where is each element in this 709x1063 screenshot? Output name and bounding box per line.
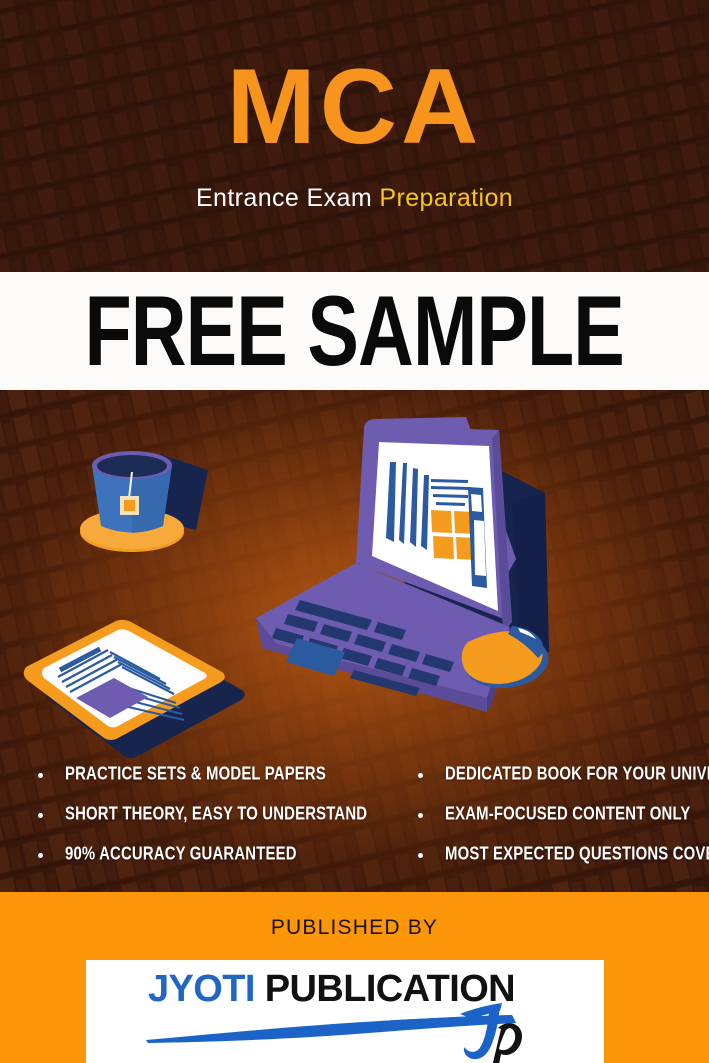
feature-label: MOST EXPECTED QUESTIONS COVERED [445, 845, 709, 866]
free-sample-band: FREE SAMPLE [0, 272, 709, 390]
bullet-dot-icon [418, 853, 423, 858]
free-sample-label: FREE SAMPLE [85, 281, 624, 380]
feature-column-left: PRACTICE SETS & MODEL PAPERS SHORT THEOR… [26, 762, 390, 872]
logo-monogram-jp-icon [454, 1000, 540, 1063]
book-cover: MCA Entrance Exam Preparation FREE SAMPL… [0, 0, 709, 1063]
tablet-document [24, 620, 245, 758]
subtitle-plain-text: Entrance Exam [196, 184, 379, 212]
feature-label: DEDICATED BOOK FOR YOUR UNIVERSITY [445, 765, 709, 786]
list-item: SHORT THEORY, EASY TO UNDERSTAND [26, 806, 390, 824]
list-item: PRACTICE SETS & MODEL PAPERS [26, 766, 390, 784]
coffee-cup [80, 451, 236, 552]
feature-label: SHORT THEORY, EASY TO UNDERSTAND [65, 805, 367, 826]
list-item: MOST EXPECTED QUESTIONS COVERED [406, 846, 709, 864]
list-item: DEDICATED BOOK FOR YOUR UNIVERSITY [406, 766, 709, 784]
publisher-logo: JYOTI PUBLICATION [86, 960, 604, 1063]
subtitle-accent-text: Preparation [379, 184, 513, 212]
publisher-name-primary: JYOTI [148, 968, 255, 1010]
bullet-dot-icon [38, 773, 43, 778]
list-item: 90% ACCURACY GUARANTEED [26, 846, 390, 864]
feature-list: PRACTICE SETS & MODEL PAPERS SHORT THEOR… [0, 762, 709, 872]
feature-label: EXAM-FOCUSED CONTENT ONLY [445, 805, 691, 826]
list-item: EXAM-FOCUSED CONTENT ONLY [406, 806, 709, 824]
title-block: MCA Entrance Exam Preparation [0, 0, 709, 272]
published-by-label: PUBLISHED BY [0, 916, 709, 940]
header-band: MCA Entrance Exam Preparation [0, 0, 709, 272]
page-title: MCA [227, 53, 483, 160]
subtitle: Entrance Exam Preparation [196, 184, 513, 213]
feature-label: PRACTICE SETS & MODEL PAPERS [65, 765, 326, 786]
bullet-dot-icon [38, 853, 43, 858]
feature-column-right: DEDICATED BOOK FOR YOUR UNIVERSITY EXAM-… [390, 762, 709, 872]
feature-label: 90% ACCURACY GUARANTEED [65, 845, 297, 866]
bullet-dot-icon [38, 813, 43, 818]
bullet-dot-icon [418, 813, 423, 818]
bullet-dot-icon [418, 773, 423, 778]
